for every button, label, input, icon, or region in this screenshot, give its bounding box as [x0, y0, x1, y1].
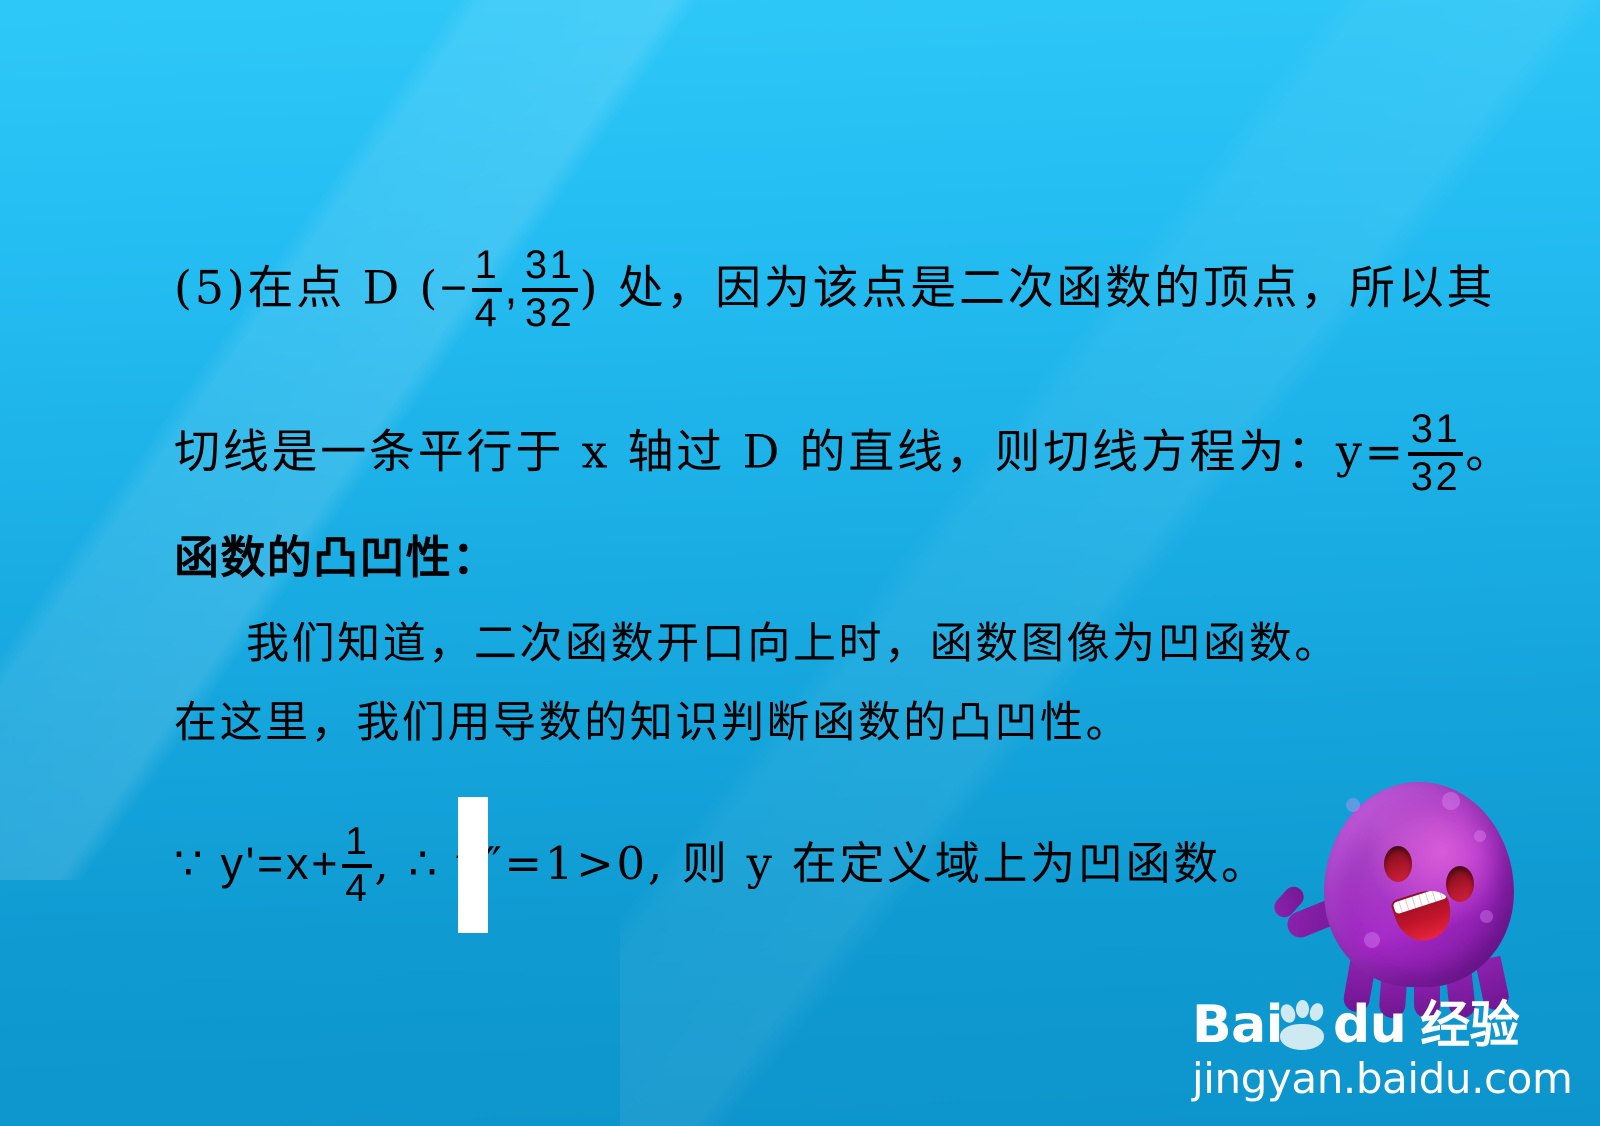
- fraction-tangent-value: 31 32: [1408, 410, 1464, 497]
- mascot-eye-left: [1384, 846, 1412, 882]
- paw-toe: [1308, 1002, 1325, 1023]
- fraction-denominator: 4: [472, 294, 503, 334]
- fraction-numerator: 31: [522, 246, 578, 286]
- text-cursor-bar: [458, 797, 488, 933]
- line1-suffix: ) 处，因为该点是二次函数的顶点，所以其: [580, 261, 1496, 315]
- baidu-jingyan-watermark: Bai du经验 jingyan.baidu.com: [1192, 772, 1592, 1120]
- mascot-speckle: [1364, 932, 1380, 948]
- fraction-denominator: 32: [1408, 458, 1464, 498]
- fraction-numerator: 1: [342, 823, 372, 862]
- fraction-thirtyone-thirtytwo: 31 32: [522, 246, 578, 333]
- octopus-mascot-icon: [1324, 782, 1514, 1017]
- baidu-logo-du: du: [1333, 995, 1406, 1055]
- baidu-logo-bai: Bai: [1192, 995, 1283, 1055]
- fraction-numerator: 1: [472, 246, 503, 286]
- mascot-speckle: [1474, 830, 1486, 842]
- mascot-speckle: [1480, 910, 1493, 923]
- slide-content: (5)在点 D (− 1 4 , 31 32 ) 处，因为该点是二次函数的顶点，…: [0, 0, 1600, 1126]
- fraction-one-quarter: 1 4: [472, 246, 503, 333]
- baidu-logo: Bai du经验: [1192, 990, 1592, 1060]
- mascot-eye-right: [1446, 866, 1474, 902]
- baidu-logo-cn: 经验: [1420, 996, 1519, 1054]
- formula-part-2: , ∴ y″=1>0, 则 y 在定义域上为凹函数。: [374, 837, 1268, 890]
- section-heading: 函数的凸凹性：: [174, 535, 498, 580]
- formula-line: ∵ y'=x+ 1 4 , ∴ y″=1>0, 则 y 在定义域上为凹函数。: [174, 825, 1269, 910]
- mascot-speckle: [1346, 798, 1360, 812]
- mascot-speckle: [1442, 792, 1460, 810]
- fraction-denominator: 4: [342, 870, 372, 909]
- text-line-2: 切线是一条平行于 x 轴过 D 的直线，则切线方程为：y= 31 32 。: [174, 412, 1514, 499]
- paw-icon: [1279, 1000, 1335, 1052]
- paw-pad: [1280, 1024, 1324, 1050]
- body-line-2: 在这里，我们用导数的知识判断函数的凸凹性。: [174, 702, 1131, 745]
- paw-toe: [1278, 1002, 1298, 1025]
- line1-minus: −: [440, 262, 470, 314]
- line2-suffix: 。: [1465, 425, 1514, 479]
- mascot-head: [1324, 782, 1514, 987]
- fraction-one-quarter-derivative: 1 4: [342, 823, 372, 908]
- formula-part-1: ∵ y'=x+: [174, 838, 340, 889]
- slide-canvas: (5)在点 D (− 1 4 , 31 32 ) 处，因为该点是二次函数的顶点，…: [0, 0, 1600, 1126]
- fraction-denominator: 32: [522, 294, 578, 334]
- fraction-numerator: 31: [1408, 410, 1464, 450]
- watermark-url: jingyan.baidu.com: [1192, 1054, 1592, 1103]
- line2-prefix: 切线是一条平行于 x 轴过 D 的直线，则切线方程为：y=: [174, 425, 1406, 479]
- mascot-teeth: [1392, 886, 1447, 914]
- body-line-1: 我们知道，二次函数开口向上时，函数图像为凹函数。: [174, 623, 1340, 666]
- line1-prefix: (5)在点 D (: [174, 261, 440, 315]
- paw-toe: [1296, 1000, 1309, 1018]
- text-line-1: (5)在点 D (− 1 4 , 31 32 ) 处，因为该点是二次函数的顶点，…: [174, 248, 1495, 335]
- body-line-1-text: 我们知道，二次函数开口向上时，函数图像为凹函数。: [246, 619, 1340, 669]
- line1-separator: ,: [504, 262, 520, 314]
